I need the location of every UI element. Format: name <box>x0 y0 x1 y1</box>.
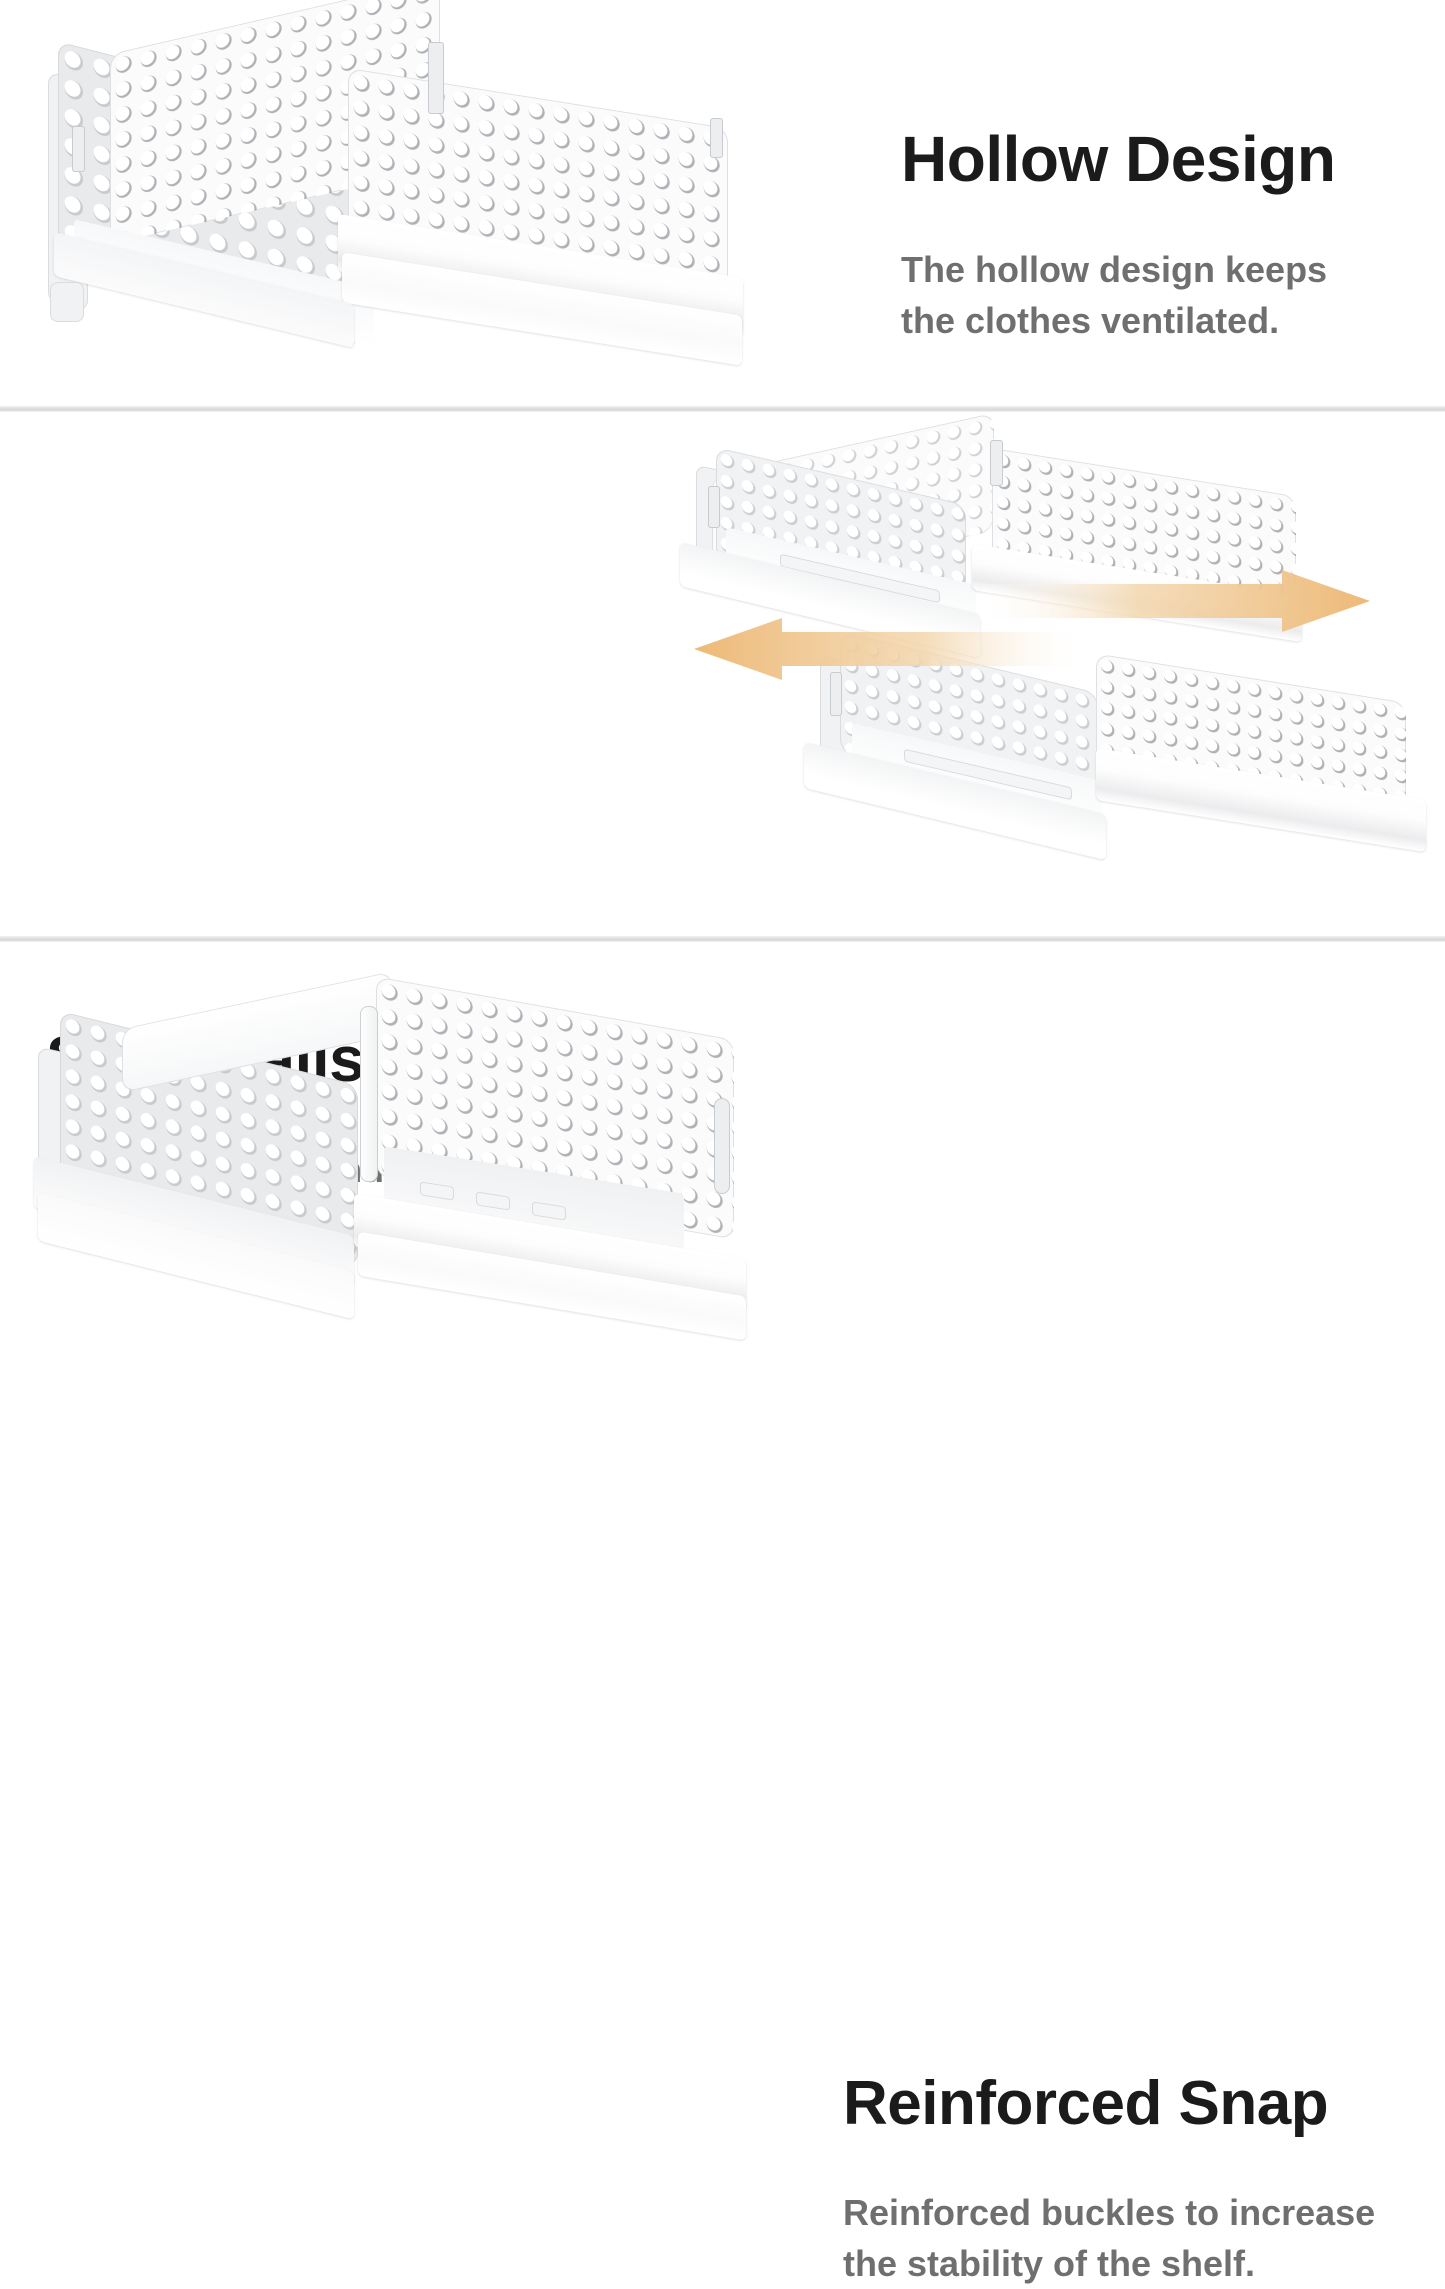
panel-reinforced-snap: Reinforced Snap Reinforced buckles to in… <box>0 948 1445 1358</box>
snap-clip-icon <box>710 118 723 158</box>
body-line: the clothes ventilated. <box>901 295 1441 346</box>
product-image-reinforced-snap <box>24 990 784 1340</box>
snap-clip-icon <box>708 486 720 528</box>
text-block-hollow-design: Hollow Design The hollow design keeps th… <box>901 74 1441 346</box>
slide-arrow-right <box>982 570 1370 632</box>
body-line: the stability of the shelf. <box>843 2238 1443 2289</box>
product-image-slide-rails <box>672 430 1432 900</box>
panel-body: Reinforced buckles to increase the stabi… <box>843 2187 1443 2289</box>
slide-arrow-left <box>694 618 1082 680</box>
panel-heading: Hollow Design <box>901 127 1441 191</box>
panel-divider <box>0 936 1445 942</box>
panel-slide-rails: Slide Rails Stable stacking and easy sli… <box>0 418 1445 942</box>
basket-foot <box>50 282 84 322</box>
panel-divider <box>0 406 1445 412</box>
body-line: The hollow design keeps <box>901 244 1441 295</box>
infographic-page: Hollow Design The hollow design keeps th… <box>0 0 1445 1358</box>
text-block-reinforced-snap: Reinforced Snap Reinforced buckles to in… <box>843 2022 1443 2289</box>
panel-hollow-design: Hollow Design The hollow design keeps th… <box>0 0 1445 412</box>
panel-body: The hollow design keeps the clothes vent… <box>901 244 1441 346</box>
panel-heading: Reinforced Snap <box>843 2073 1443 2135</box>
slide-direction-arrows <box>652 570 1412 700</box>
snap-clip-icon <box>72 126 85 172</box>
snap-post-icon <box>428 42 444 114</box>
snap-post-icon <box>990 440 1003 486</box>
snap-post-icon <box>360 1006 378 1182</box>
product-image-hollow-design <box>38 18 778 393</box>
reinforced-buckle-icon[interactable] <box>714 1098 730 1194</box>
body-line: Reinforced buckles to increase <box>843 2187 1443 2238</box>
